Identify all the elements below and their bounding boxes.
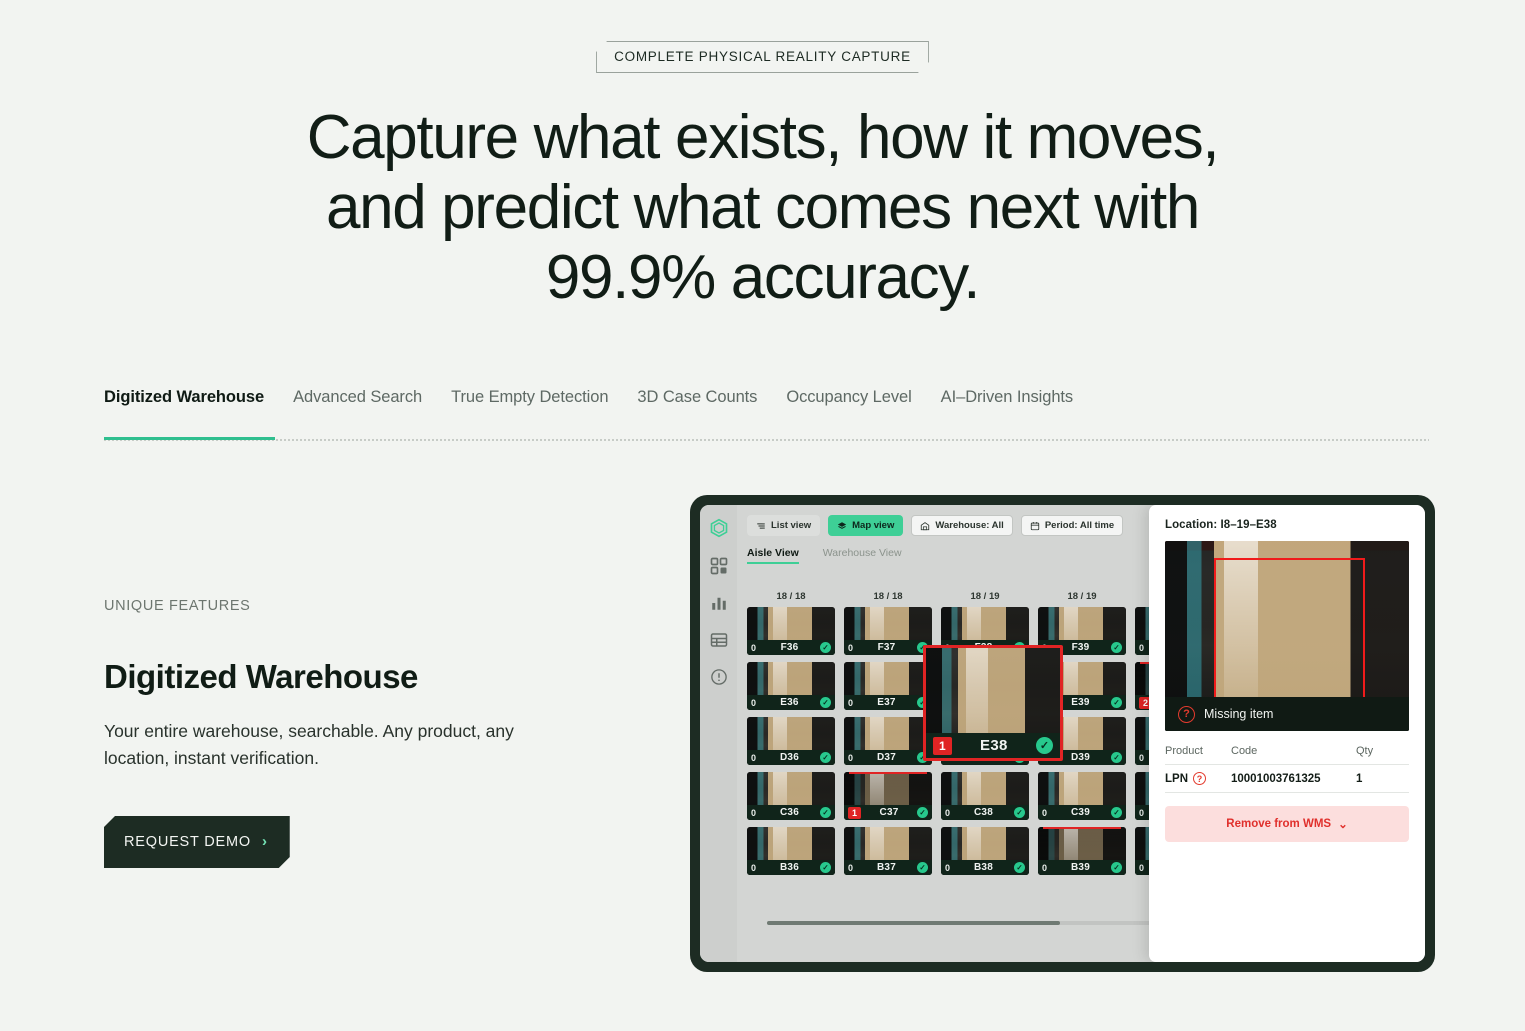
pallet-qty-badge: 0 <box>1042 863 1050 873</box>
check-circle-icon: ✓ <box>1111 642 1122 653</box>
pallet-cell[interactable]: 0C38✓ <box>941 772 1029 820</box>
pallet-qty-badge: 0 <box>945 863 953 873</box>
feature-eyebrow: UNIQUE FEATURES <box>104 598 574 614</box>
pallet-cell-bar: 0C39✓ <box>1038 805 1126 820</box>
column-header: 18 / 18 <box>844 591 932 602</box>
tab-3d-case-counts[interactable]: 3D Case Counts <box>637 388 757 413</box>
pallet-qty-badge: 0 <box>848 643 856 653</box>
subtab-aisle-view[interactable]: Aisle View <box>747 547 799 564</box>
table-list-icon[interactable] <box>710 631 728 649</box>
cell-product: LPN ? <box>1165 765 1231 793</box>
pallet-qty-badge: 0 <box>848 753 856 763</box>
pallet-cell[interactable]: 0D37✓ <box>844 717 932 765</box>
column-header-qty: Qty <box>1356 745 1409 765</box>
pallet-cell-bar: 0B36✓ <box>747 860 835 875</box>
hero-badge: COMPLETE PHYSICAL REALITY CAPTURE <box>596 41 929 73</box>
request-demo-button[interactable]: REQUEST DEMO › <box>104 816 290 868</box>
chevron-down-icon: ⌄ <box>1338 817 1348 831</box>
app-window: List view Map view Warehouse: All Period… <box>700 505 1425 962</box>
pallet-location-label: C39 <box>1054 807 1107 818</box>
pallet-cell[interactable]: 0B36✓ <box>747 827 835 875</box>
pallet-cell[interactable]: 0B37✓ <box>844 827 932 875</box>
column-header-code: Code <box>1231 745 1356 765</box>
question-circle-icon[interactable]: ? <box>1193 772 1206 785</box>
pallet-cell[interactable]: 0E37✓ <box>844 662 932 710</box>
check-circle-icon: ✓ <box>1111 862 1122 873</box>
pallet-cell-bar: 0E37✓ <box>844 695 932 710</box>
detail-location-title: Location: I8–19–E38 <box>1165 519 1409 531</box>
check-circle-icon: ✓ <box>820 697 831 708</box>
pallet-cell-bar: 0D37✓ <box>844 750 932 765</box>
pallet-cell[interactable]: 0D36✓ <box>747 717 835 765</box>
check-circle-icon: ✓ <box>1014 807 1025 818</box>
feature-tab-list: Digitized Warehouse Advanced Search True… <box>104 388 1429 413</box>
warehouse-icon <box>920 521 930 531</box>
feature-title: Digitized Warehouse <box>104 658 574 696</box>
map-view-label: Map view <box>852 520 894 531</box>
pallet-qty-badge: 0 <box>751 643 759 653</box>
pallet-qty-badge: 0 <box>1139 863 1147 873</box>
pallet-qty-badge: 0 <box>945 808 953 818</box>
qr-grid-icon[interactable] <box>710 557 728 575</box>
alert-circle-icon[interactable] <box>710 668 728 686</box>
pallet-cell[interactable]: 0F37✓ <box>844 607 932 655</box>
pallet-cell-bar: 0E36✓ <box>747 695 835 710</box>
check-circle-icon: ✓ <box>1014 862 1025 873</box>
pallet-cell-bar: 1C37✓ <box>844 805 932 820</box>
tab-active-indicator <box>104 437 275 440</box>
chevron-right-icon: › <box>262 833 268 850</box>
hero-headline: Capture what exists, how it moves, and p… <box>258 103 1268 313</box>
pallet-location-label: F36 <box>763 642 816 653</box>
pallet-location-label: E36 <box>763 697 816 708</box>
pallet-location-label: D37 <box>860 752 913 763</box>
app-main: List view Map view Warehouse: All Period… <box>737 505 1425 962</box>
product-table-header-row: Product Code Qty <box>1165 745 1409 765</box>
request-demo-label: REQUEST DEMO <box>124 834 251 850</box>
page-root: COMPLETE PHYSICAL REALITY CAPTURE Captur… <box>0 0 1525 1031</box>
map-view-button[interactable]: Map view <box>828 515 903 536</box>
pallet-location-label: B36 <box>763 862 816 873</box>
pallet-cell-bar: 0B38✓ <box>941 860 1029 875</box>
pallet-qty-badge: 0 <box>848 698 856 708</box>
pallet-cell-bar: 0B39✓ <box>1038 860 1126 875</box>
pallet-cell[interactable]: 0B38✓ <box>941 827 1029 875</box>
pallet-cell-bar: 0B37✓ <box>844 860 932 875</box>
tab-true-empty-detection[interactable]: True Empty Detection <box>451 388 608 413</box>
pallet-cell[interactable]: 0B39✓ <box>1038 827 1126 875</box>
tab-digitized-warehouse[interactable]: Digitized Warehouse <box>104 388 264 413</box>
subtab-warehouse-view[interactable]: Warehouse View <box>823 547 902 564</box>
check-circle-icon: ✓ <box>1111 807 1122 818</box>
tab-advanced-search[interactable]: Advanced Search <box>293 388 422 413</box>
tab-divider-dotted <box>104 438 1429 441</box>
check-circle-icon: ✓ <box>820 862 831 873</box>
list-view-button[interactable]: List view <box>747 515 820 536</box>
pallet-location-label: F37 <box>860 642 913 653</box>
column-header: 18 / 19 <box>1038 591 1126 602</box>
pallet-cell-bar: 0D36✓ <box>747 750 835 765</box>
pallet-location-label: D36 <box>763 752 816 763</box>
bar-chart-icon[interactable] <box>710 594 728 612</box>
pallet-cell-bar: 1 E38 ✓ <box>926 733 1060 758</box>
pallet-cell-bar: 0F36✓ <box>747 640 835 655</box>
check-circle-icon: ✓ <box>917 862 928 873</box>
period-filter-label: Period: All time <box>1045 520 1114 531</box>
column-header: 18 / 19 <box>941 591 1029 602</box>
check-circle-icon: ✓ <box>1036 737 1053 754</box>
warehouse-filter-label: Warehouse: All <box>935 520 1003 531</box>
pallet-qty-badge: 0 <box>751 863 759 873</box>
check-circle-icon: ✓ <box>1111 697 1122 708</box>
period-filter-button[interactable]: Period: All time <box>1021 515 1123 536</box>
missing-item-label: Missing item <box>1204 707 1273 721</box>
warehouse-filter-button[interactable]: Warehouse: All <box>911 515 1012 536</box>
location-detail-panel: Location: I8–19–E38 ? Missing item <box>1149 505 1425 962</box>
detail-pallet-photo: ? Missing item <box>1165 541 1409 731</box>
logo-hexagon-icon[interactable] <box>709 518 729 538</box>
pallet-location-label: B39 <box>1054 862 1107 873</box>
pallet-location-label: B37 <box>860 862 913 873</box>
pallet-cell[interactable]: 0F36✓ <box>747 607 835 655</box>
layers-icon <box>837 521 847 531</box>
pallet-qty-badge: 0 <box>751 753 759 763</box>
pallet-qty-badge: 0 <box>751 808 759 818</box>
pallet-qty-badge: 0 <box>751 698 759 708</box>
lpn-wrapper: LPN ? <box>1165 772 1206 785</box>
column-header: 18 / 18 <box>747 591 835 602</box>
pallet-qty-badge: 1 <box>933 737 952 755</box>
pallet-qty-badge: 0 <box>1139 808 1147 818</box>
pallet-location-label: C38 <box>957 807 1010 818</box>
check-circle-icon: ✓ <box>820 752 831 763</box>
question-circle-icon: ? <box>1178 706 1195 723</box>
pallet-qty-badge: 0 <box>1139 643 1147 653</box>
table-row: LPN ? 10001003761325 1 <box>1165 765 1409 793</box>
pallet-location-label: E38 <box>956 737 1032 754</box>
list-view-label: List view <box>771 520 811 531</box>
pallet-cell[interactable]: 0C39✓ <box>1038 772 1126 820</box>
check-circle-icon: ✓ <box>1111 752 1122 763</box>
pallet-cell-selected[interactable]: 1 E38 ✓ <box>923 645 1063 761</box>
remove-from-wms-label: Remove from WMS <box>1226 818 1331 830</box>
detection-bounding-box <box>1214 558 1365 701</box>
pallet-location-label: B38 <box>957 862 1010 873</box>
pallet-location-label: C36 <box>763 807 816 818</box>
pallet-cell[interactable]: 1C37✓ <box>844 772 932 820</box>
tab-ai-driven-insights[interactable]: AI–Driven Insights <box>941 388 1073 413</box>
missing-item-banner: ? Missing item <box>1165 697 1409 731</box>
pallet-cell-bar: 0F37✓ <box>844 640 932 655</box>
feature-tabs: Digitized Warehouse Advanced Search True… <box>104 388 1429 413</box>
product-label: LPN <box>1165 773 1188 785</box>
check-circle-icon: ✓ <box>917 807 928 818</box>
feature-description: Your entire warehouse, searchable. Any p… <box>104 718 554 772</box>
pallet-location-label: C37 <box>865 807 913 818</box>
remove-from-wms-button[interactable]: Remove from WMS ⌄ <box>1165 806 1409 842</box>
check-circle-icon: ✓ <box>820 807 831 818</box>
pallet-qty-badge: 0 <box>1042 808 1050 818</box>
pallet-qty-badge: 0 <box>848 863 856 873</box>
pallet-qty-badge: 0 <box>1139 753 1147 763</box>
cell-qty: 1 <box>1356 765 1409 793</box>
pallet-cell[interactable]: 0C36✓ <box>747 772 835 820</box>
app-mockup-frame: List view Map view Warehouse: All Period… <box>690 495 1435 972</box>
calendar-icon <box>1030 521 1040 531</box>
list-lines-icon <box>756 521 766 531</box>
tab-occupancy-level[interactable]: Occupancy Level <box>786 388 911 413</box>
pallet-cell[interactable]: 0E36✓ <box>747 662 835 710</box>
pallet-cell-bar: 0C38✓ <box>941 805 1029 820</box>
pallet-qty-badge: 1 <box>848 807 861 819</box>
scrollbar-thumb[interactable] <box>767 921 1060 925</box>
pallet-cell-bar: 0C36✓ <box>747 805 835 820</box>
check-circle-icon: ✓ <box>820 642 831 653</box>
hero-badge-container: COMPLETE PHYSICAL REALITY CAPTURE <box>0 0 1525 73</box>
cell-code: 10001003761325 <box>1231 765 1356 793</box>
pallet-location-label: E37 <box>860 697 913 708</box>
feature-copy-column: UNIQUE FEATURES Digitized Warehouse Your… <box>104 598 574 868</box>
product-table: Product Code Qty LPN ? <box>1165 745 1409 793</box>
column-header-product: Product <box>1165 745 1231 765</box>
app-sidebar <box>700 505 737 962</box>
